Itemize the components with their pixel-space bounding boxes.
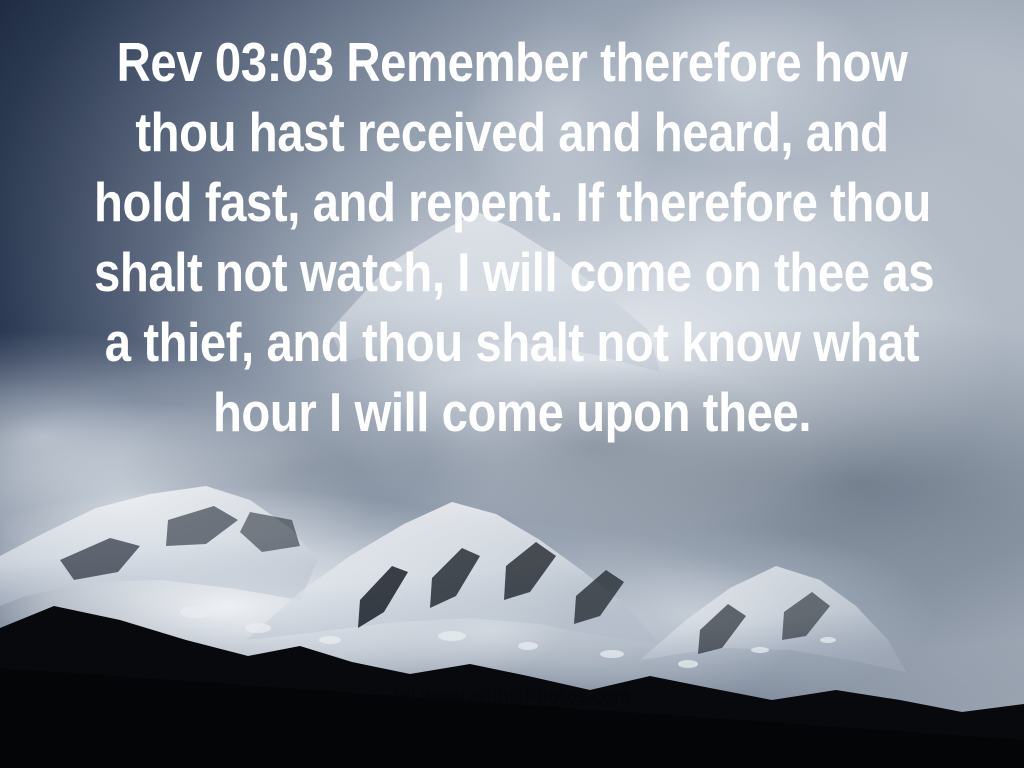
verse-line-5: a thief, and thou shalt not know what <box>94 307 930 377</box>
verse-line-1: Rev 03:03 Remember therefore how <box>94 27 930 97</box>
verse-text-block: Rev 03:03 Remember therefore how thou ha… <box>0 27 1024 447</box>
scripture-photo-canvas: Rev 03:03 Remember therefore how thou ha… <box>0 0 1024 768</box>
verse-line-3: hold fast, and repent. If therefore thou <box>94 167 930 237</box>
verse-line-4: shalt not watch, I will come on thee as <box>94 237 930 307</box>
verse-line-2: thou hast received and heard, and <box>94 97 930 167</box>
copyright-watermark: (c) www.eBiblePhotos.com <box>61 685 962 709</box>
verse-line-6: hour I will come upon thee. <box>94 377 930 447</box>
